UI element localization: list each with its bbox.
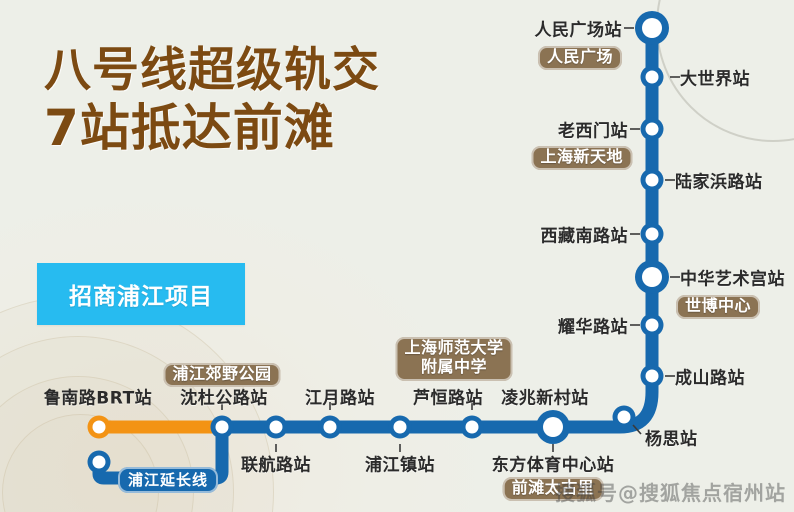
poi-tag-shibo-zhongxin[interactable]: 世博中心 [676, 295, 760, 319]
station-label-yangsi[interactable]: 杨思站 [645, 425, 698, 450]
station-label-pujiang-zhen[interactable]: 浦江镇站 [365, 451, 435, 476]
poi-tag-qiantan-taikooli[interactable]: 前滩太古里 [503, 477, 604, 501]
station-label-renmin-guangchang[interactable]: 人民广场站 [535, 16, 623, 41]
station-label-zhonghua-yishugong[interactable]: 中华艺术宫站 [680, 265, 785, 290]
station-label-yaohua-lu[interactable]: 耀华路站 [558, 313, 628, 338]
poi-tag-renmin-guangchang[interactable]: 人民广场 [538, 46, 622, 70]
station-label-jiangyue-lu[interactable]: 江月路站 [305, 384, 375, 409]
station-label-dongfang-tiyu-zhongxin[interactable]: 东方体育中心站 [492, 451, 615, 476]
poi-tag-line-2: 附属中学 [404, 358, 503, 377]
poi-tag-pujiang-jiaoye-gongyuan[interactable]: 浦江郊野公园 [163, 363, 280, 387]
station-label-lianhang-lu[interactable]: 联航路站 [241, 451, 311, 476]
poi-tag-shanghai-xintiandi[interactable]: 上海新天地 [531, 146, 632, 170]
metro-line-infographic: 八号线超级轨交 7站抵达前滩 招商浦江项目 [0, 0, 794, 512]
station-label-dashijie[interactable]: 大世界站 [680, 65, 750, 90]
station-label-shendu-gonglu[interactable]: 沈杜公路站 [180, 384, 268, 409]
branch-line-label[interactable]: 浦江延长线 [118, 467, 218, 493]
station-label-xizang-nan-lu[interactable]: 西藏南路站 [541, 222, 629, 247]
station-label-lingzhao-xincun[interactable]: 凌兆新村站 [501, 384, 589, 409]
poi-tag-shanghai-shifan-fuzhong[interactable]: 上海师范大学 附属中学 [395, 337, 512, 381]
station-label-luheng-lu[interactable]: 芦恒路站 [413, 384, 483, 409]
station-label-laoximen[interactable]: 老西门站 [558, 117, 628, 142]
station-label-lujiabang-lu[interactable]: 陆家浜路站 [675, 168, 763, 193]
poi-tag-line-1: 上海师范大学 [404, 339, 503, 358]
station-label-lunan-lu-brt[interactable]: 鲁南路BRT站 [44, 384, 152, 409]
station-label-chengshan-lu[interactable]: 成山路站 [675, 364, 745, 389]
branch-terminus-dots [88, 416, 111, 474]
